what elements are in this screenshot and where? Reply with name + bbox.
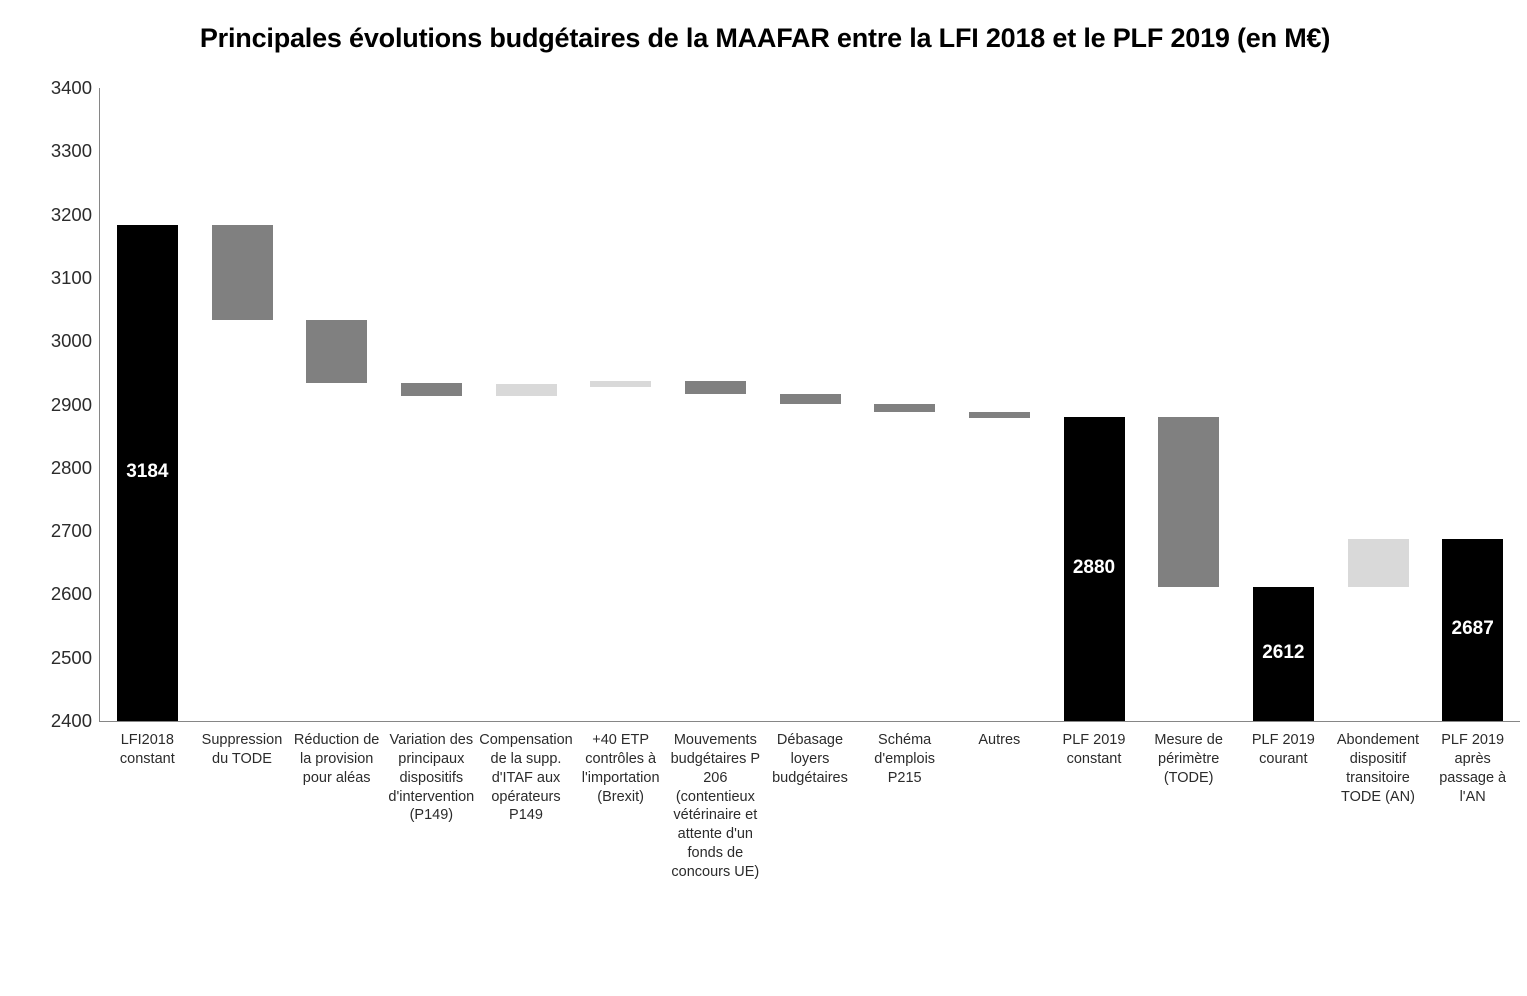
x-axis-category-labels: LFI2018 constantSuppression du TODERéduc… [100,731,1520,991]
y-axis-tick-label: 3100 [32,267,92,289]
x-axis-category-label: LFI2018 constant [100,731,195,769]
y-axis-tick-label: 2600 [32,583,92,605]
waterfall-bar [306,320,367,383]
waterfall-bar [401,383,462,396]
y-axis-tick-label: 2700 [32,520,92,542]
x-axis-category-label: Autres [952,731,1047,750]
y-axis-tick-label: 3000 [32,330,92,352]
waterfall-bar [212,225,273,320]
waterfall-bar [1158,417,1219,587]
waterfall-bar [780,394,841,403]
y-axis-tick-labels: 3400330032003100300029002800270026002500… [27,0,92,996]
bar-value-label: 2880 [1064,557,1125,579]
y-axis-tick-label: 2500 [32,647,92,669]
x-axis-category-label: PLF 2019 constant [1047,731,1142,769]
waterfall-bar [685,381,746,394]
x-axis-category-label: Mouvements budgétaires P 206 (contentieu… [668,731,763,882]
bar-value-label: 2687 [1442,618,1503,640]
waterfall-bar: 2880 [1064,417,1125,721]
waterfall-bar [590,381,651,387]
y-axis-tick-label: 2800 [32,457,92,479]
x-axis-category-label: +40 ETP contrôles à l'importation (Brexi… [573,731,668,806]
x-axis-line [100,721,1520,722]
x-axis-category-label: PLF 2019 après passage à l'AN [1425,731,1520,806]
x-axis-category-label: Réduction de la provision pour aléas [289,731,384,788]
waterfall-bar [874,404,935,412]
chart-title: Principales évolutions budgétaires de la… [160,20,1370,56]
waterfall-bar: 2687 [1442,539,1503,721]
waterfall-chart: Principales évolutions budgétaires de la… [0,0,1527,996]
bar-value-label: 2612 [1253,642,1314,664]
waterfall-bar [969,412,1030,418]
waterfall-bar: 3184 [117,225,178,721]
y-axis-tick-label: 2400 [32,710,92,732]
bar-value-label: 3184 [117,461,178,483]
x-axis-category-label: Suppression du TODE [195,731,290,769]
x-axis-category-label: Mesure de périmètre (TODE) [1141,731,1236,788]
y-axis-tick-label: 3400 [32,77,92,99]
x-axis-category-label: Schéma d'emplois P215 [857,731,952,788]
x-axis-category-label: Variation des principaux dispositifs d'i… [384,731,479,825]
waterfall-bar [1348,539,1409,586]
x-axis-category-label: Compensation de la supp. d'ITAF aux opér… [479,731,574,825]
x-axis-category-label: PLF 2019 courant [1236,731,1331,769]
x-axis-category-label: Abondement dispositif transitoire TODE (… [1331,731,1426,806]
plot-area: 3184288026122687 [100,88,1520,721]
waterfall-bar: 2612 [1253,587,1314,721]
y-axis-tick-label: 2900 [32,394,92,416]
waterfall-bar [496,384,557,397]
x-axis-category-label: Débasage loyers budgétaires [763,731,858,788]
y-axis-tick-label: 3300 [32,140,92,162]
y-axis-tick-label: 3200 [32,204,92,226]
